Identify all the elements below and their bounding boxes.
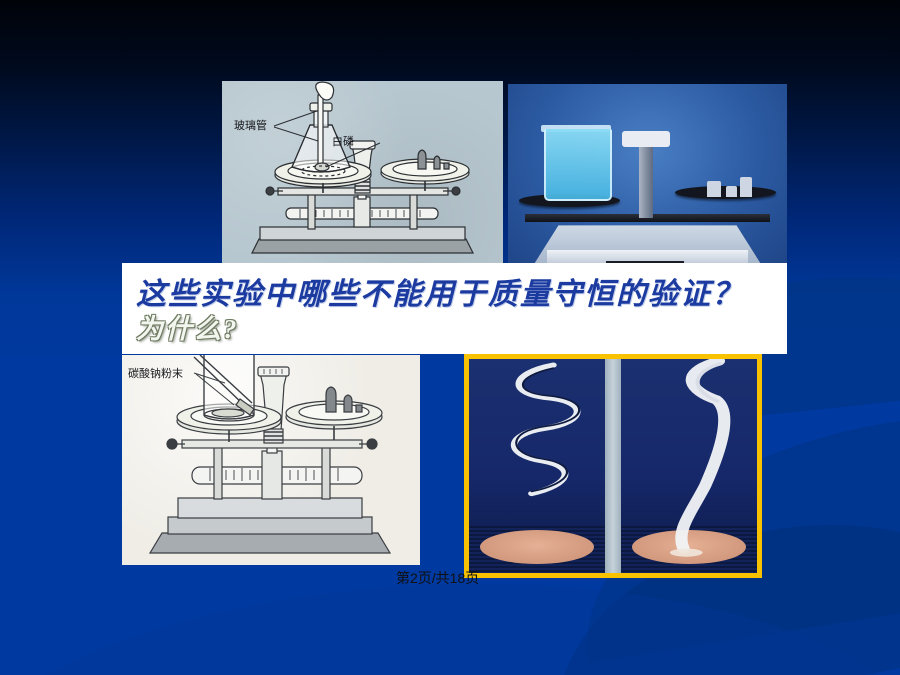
weight-tall — [740, 177, 752, 198]
weight-large — [707, 181, 722, 197]
magnesium-oxide-ash-ribbon — [621, 359, 757, 573]
label-sodium-carbonate-powder: 碳酸钠粉末 — [128, 365, 183, 381]
figure-magnesium-ribbon-photo — [464, 354, 762, 578]
page-indicator: 第2页/共18页 — [396, 568, 479, 588]
slide-canvas: 玻璃管 白磷 — [0, 0, 900, 675]
beaker-with-blue-solution — [544, 129, 612, 202]
label-white-phosphorus: 白磷 — [332, 133, 354, 149]
magnesium-ribbon-coiled — [469, 359, 605, 573]
figure-beaker-balance-photo — [508, 84, 787, 270]
figure-white-phosphorus-balance: 玻璃管 白磷 — [222, 81, 503, 263]
weight-medium — [726, 186, 737, 197]
weight-set — [703, 171, 759, 197]
balance-drawing-carbonate — [122, 355, 420, 565]
question-text-box: 这些实验中哪些不能用于质量守恒的验证？ 为什么? — [122, 263, 787, 354]
balance-column — [639, 136, 653, 218]
photo-magnesium-before — [469, 359, 605, 573]
photo-magnesium-after — [621, 359, 757, 573]
label-glass-tube: 玻璃管 — [234, 117, 267, 133]
photo-pair — [469, 359, 757, 573]
photo-divider — [605, 359, 621, 573]
question-line-2: 为什么? — [136, 307, 239, 346]
balance-drawing-phosphorus — [222, 81, 503, 263]
balance-pointer-plate — [622, 131, 669, 148]
figure-sodium-carbonate-balance: 碳酸钠粉末 — [122, 355, 420, 565]
